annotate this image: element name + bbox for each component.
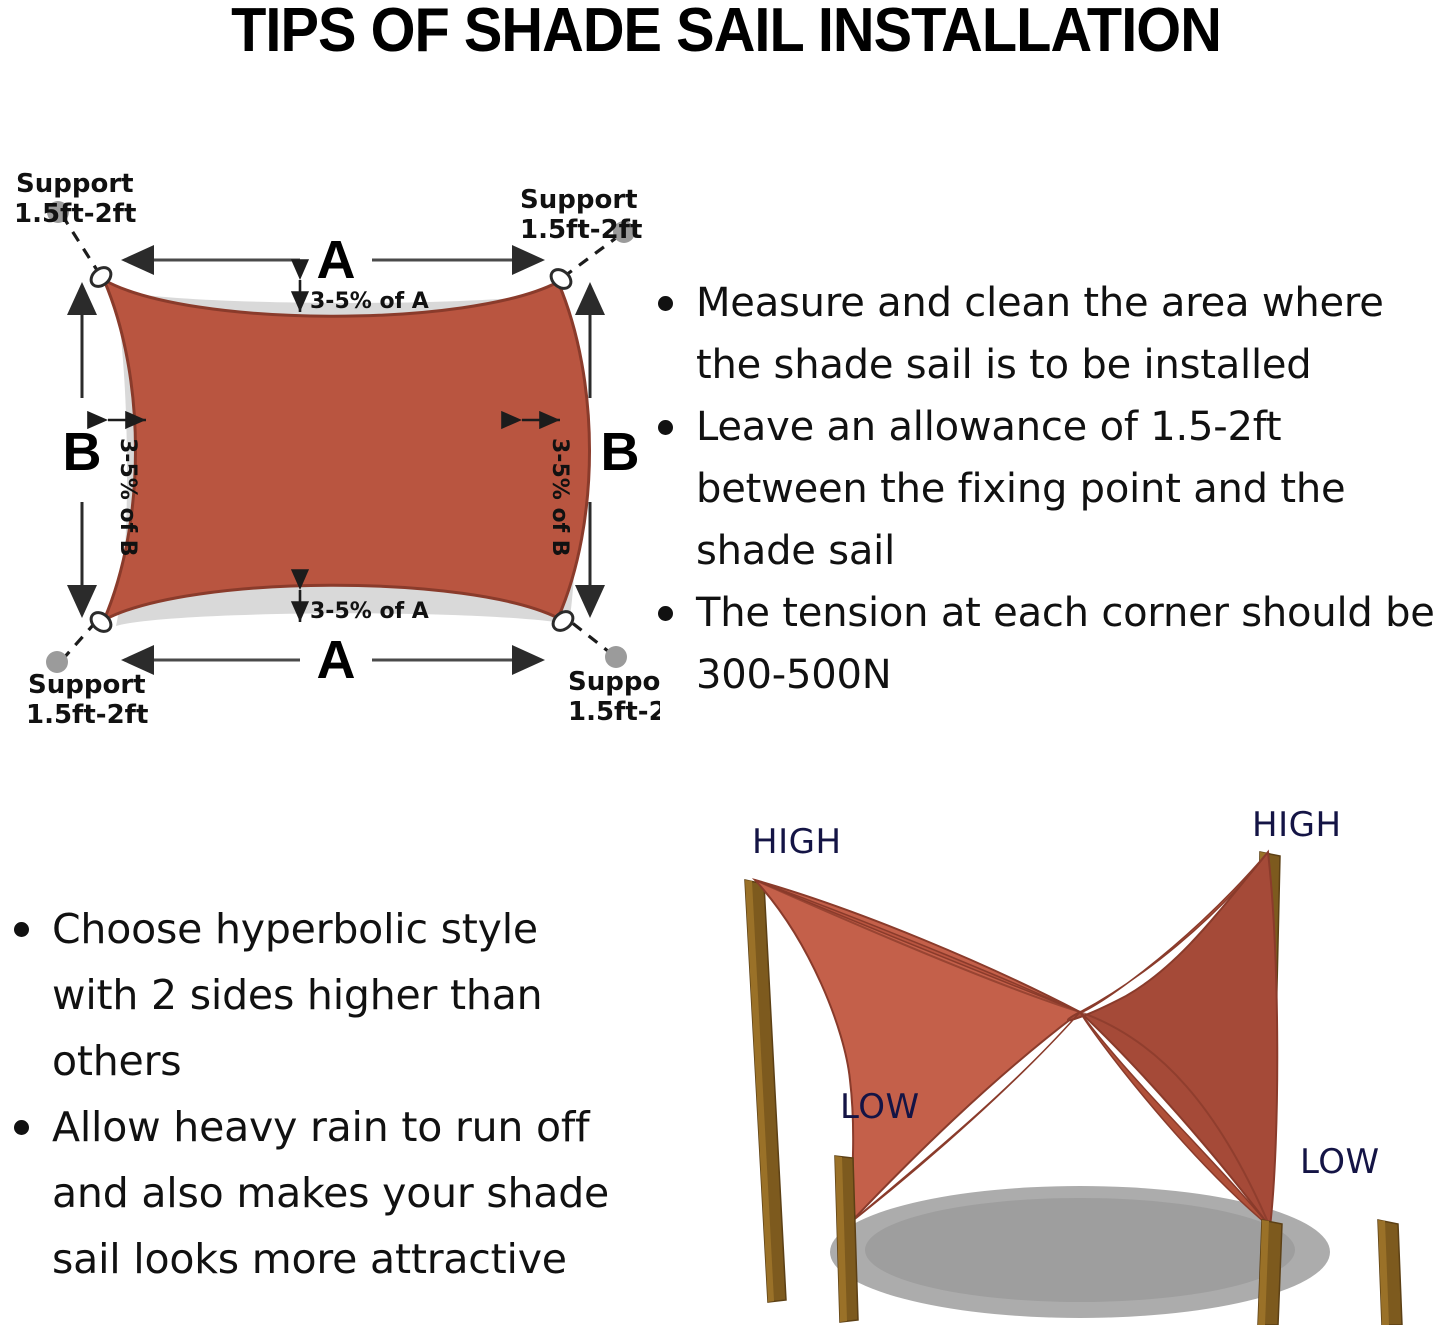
list-item: Leave an allowance of 1.5-2ft between th… — [652, 396, 1452, 582]
bullet-dot-icon — [658, 296, 673, 311]
curve-label-b-left: 3-5% of B — [115, 438, 140, 557]
support-label-bottom-right-line2: 1.5ft-2ft — [568, 697, 660, 727]
page-title: TIPS OF SHADE SAIL INSTALLATION — [51, 0, 1401, 63]
curve-label-a-bottom: 3-5% of A — [310, 599, 429, 624]
dimension-label-b-left: B — [63, 422, 102, 482]
support-label-bottom-right-line1: Support — [568, 667, 660, 697]
bullet-dot-icon — [658, 606, 673, 621]
rectangular-sail-diagram: A 3-5% of A A 3-5% of A B 3-5% of B B 3-… — [0, 150, 660, 730]
tip-text: Choose hyperbolic style with 2 sides hig… — [52, 905, 542, 1085]
ground-shadow-core — [865, 1198, 1295, 1302]
label-high-left: HIGH — [752, 822, 842, 862]
tip-text: Leave an allowance of 1.5-2ft between th… — [696, 404, 1345, 574]
dimension-label-a-top: A — [317, 230, 356, 290]
infographic-page: TIPS OF SHADE SAIL INSTALLATION — [0, 0, 1452, 1325]
bullet-dot-icon — [14, 1120, 29, 1135]
support-line-bottom-right — [566, 618, 613, 655]
support-label-bottom-left-line1: Support — [28, 670, 146, 700]
support-label-top-right-line1: Support — [520, 185, 638, 215]
support-dot-bottom-right — [605, 646, 627, 668]
list-item: The tension at each corner should be 300… — [652, 582, 1452, 706]
installation-tips-list: Measure and clean the area where the sha… — [652, 272, 1452, 706]
label-high-right: HIGH — [1252, 805, 1342, 845]
tip-text: Measure and clean the area where the sha… — [696, 280, 1384, 388]
list-item: Measure and clean the area where the sha… — [652, 272, 1452, 396]
bullet-dot-icon — [658, 420, 673, 435]
support-label-top-right-line2: 1.5ft-2ft — [520, 215, 642, 245]
sail-panel-front-left — [755, 880, 1080, 1223]
support-label-top-left-line2: 1.5ft-2ft — [14, 199, 136, 229]
dimension-label-a-bottom: A — [317, 630, 356, 690]
label-low-right: LOW — [1300, 1142, 1380, 1182]
shade-sail-shape — [104, 280, 590, 620]
tip-text: The tension at each corner should be 300… — [696, 590, 1435, 698]
list-item: Allow heavy rain to run off and also mak… — [8, 1094, 628, 1292]
tip-text: Allow heavy rain to run off and also mak… — [52, 1103, 609, 1283]
dimension-label-b-right: B — [601, 422, 640, 482]
hyperbolic-style-tips-list: Choose hyperbolic style with 2 sides hig… — [8, 896, 628, 1292]
support-label-bottom-left-line2: 1.5ft-2ft — [26, 700, 148, 730]
bullet-dot-icon — [14, 922, 29, 937]
label-low-left: LOW — [840, 1087, 920, 1127]
curve-label-b-right: 3-5% of B — [547, 438, 572, 557]
list-item: Choose hyperbolic style with 2 sides hig… — [8, 896, 628, 1094]
support-label-top-left-line1: Support — [16, 169, 134, 199]
curve-label-a-top: 3-5% of A — [310, 289, 429, 314]
